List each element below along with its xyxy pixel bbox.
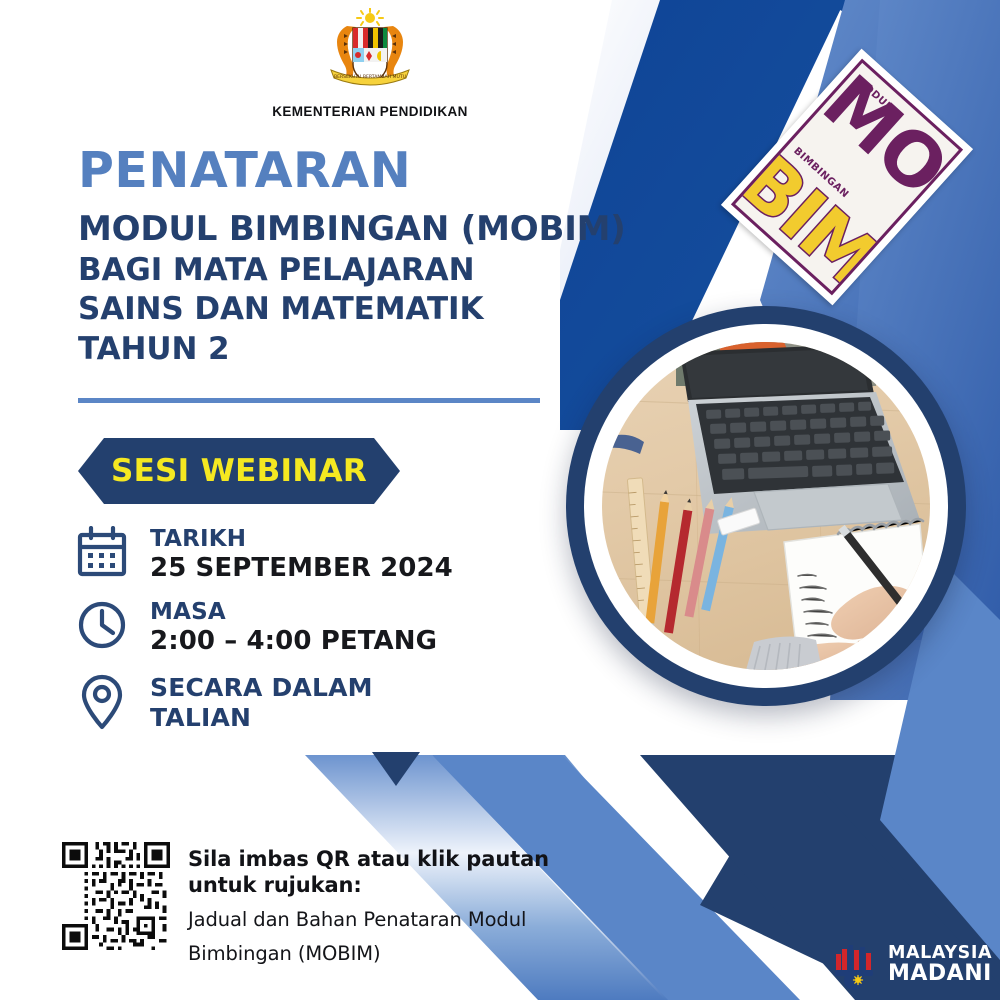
title-divider xyxy=(78,398,540,403)
malaysia-coat-of-arms-icon: BERSEKUTU BERTAMBAH MUTU xyxy=(311,8,429,100)
event-details: TARIKH 25 SEPTEMBER 2024 MASA 2:00 – 4:0… xyxy=(76,524,546,749)
qr-link-line-1[interactable]: Jadual dan Bahan Penataran Modul xyxy=(188,908,549,933)
qr-text-block: Sila imbas QR atau klik pautan untuk ruj… xyxy=(188,842,549,966)
qr-heading-line-1: Sila imbas QR atau klik pautan xyxy=(188,846,549,872)
madani-emblem-icon xyxy=(833,940,881,990)
detail-row-date: TARIKH 25 SEPTEMBER 2024 xyxy=(76,524,546,584)
madani-line-1: MALAYSIA xyxy=(888,945,992,963)
detail-value-location: TALIAN xyxy=(150,703,373,734)
malaysia-madani-logo: MALAYSIA MADANI xyxy=(833,940,992,990)
ministry-caption: KEMENTERIAN PENDIDIKAN xyxy=(255,104,485,119)
title-line-4: TAHUN 2 xyxy=(78,330,678,370)
detail-text-time: MASA 2:00 – 4:00 PETANG xyxy=(150,597,437,657)
madani-line-2: MADANI xyxy=(888,962,992,985)
qr-heading-line-2: untuk rujukan: xyxy=(188,872,549,898)
calendar-icon xyxy=(76,524,150,583)
title-block: PENATARAN MODUL BIMBINGAN (MOBIM) BAGI M… xyxy=(78,145,678,370)
detail-value-time: 2:00 – 4:00 PETANG xyxy=(150,626,437,657)
detail-text-location: SECARA DALAM TALIAN xyxy=(150,671,373,734)
detail-label-time: MASA xyxy=(150,599,437,626)
detail-label-date: TARIKH xyxy=(150,526,453,553)
title-line-1: MODUL BIMBINGAN (MOBIM) xyxy=(78,209,678,251)
sesi-webinar-label: SESI WEBINAR xyxy=(111,453,367,489)
qr-code[interactable] xyxy=(62,842,170,950)
title-line-2: BAGI MATA PELAJARAN xyxy=(78,251,678,291)
title-line-3: SAINS DAN MATEMATIK xyxy=(78,290,678,330)
title-eyebrow: PENATARAN xyxy=(78,145,678,197)
detail-row-location: SECARA DALAM TALIAN xyxy=(76,671,546,736)
madani-text-block: MALAYSIA MADANI xyxy=(888,945,992,986)
svg-text:BERSEKUTU BERTAMBAH MUTU: BERSEKUTU BERTAMBAH MUTU xyxy=(334,74,406,80)
detail-row-time: MASA 2:00 – 4:00 PETANG xyxy=(76,597,546,657)
sesi-webinar-banner: SESI WEBINAR xyxy=(78,438,400,504)
detail-value-date: 25 SEPTEMBER 2024 xyxy=(150,553,453,584)
photo-ring xyxy=(566,306,966,706)
qr-link-line-2[interactable]: Bimbingan (MOBIM) xyxy=(188,942,549,967)
ministry-header: BERSEKUTU BERTAMBAH MUTU KEMENTERIAN PEN… xyxy=(255,8,485,119)
detail-text-date: TARIKH 25 SEPTEMBER 2024 xyxy=(150,524,453,584)
webinar-desk-photo xyxy=(602,342,930,670)
location-pin-icon xyxy=(76,671,150,736)
poster-canvas: BERSEKUTU BERTAMBAH MUTU KEMENTERIAN PEN… xyxy=(0,0,1000,1000)
qr-section: Sila imbas QR atau klik pautan untuk ruj… xyxy=(62,842,549,966)
clock-icon xyxy=(76,597,150,656)
detail-label-location: SECARA DALAM xyxy=(150,673,373,704)
